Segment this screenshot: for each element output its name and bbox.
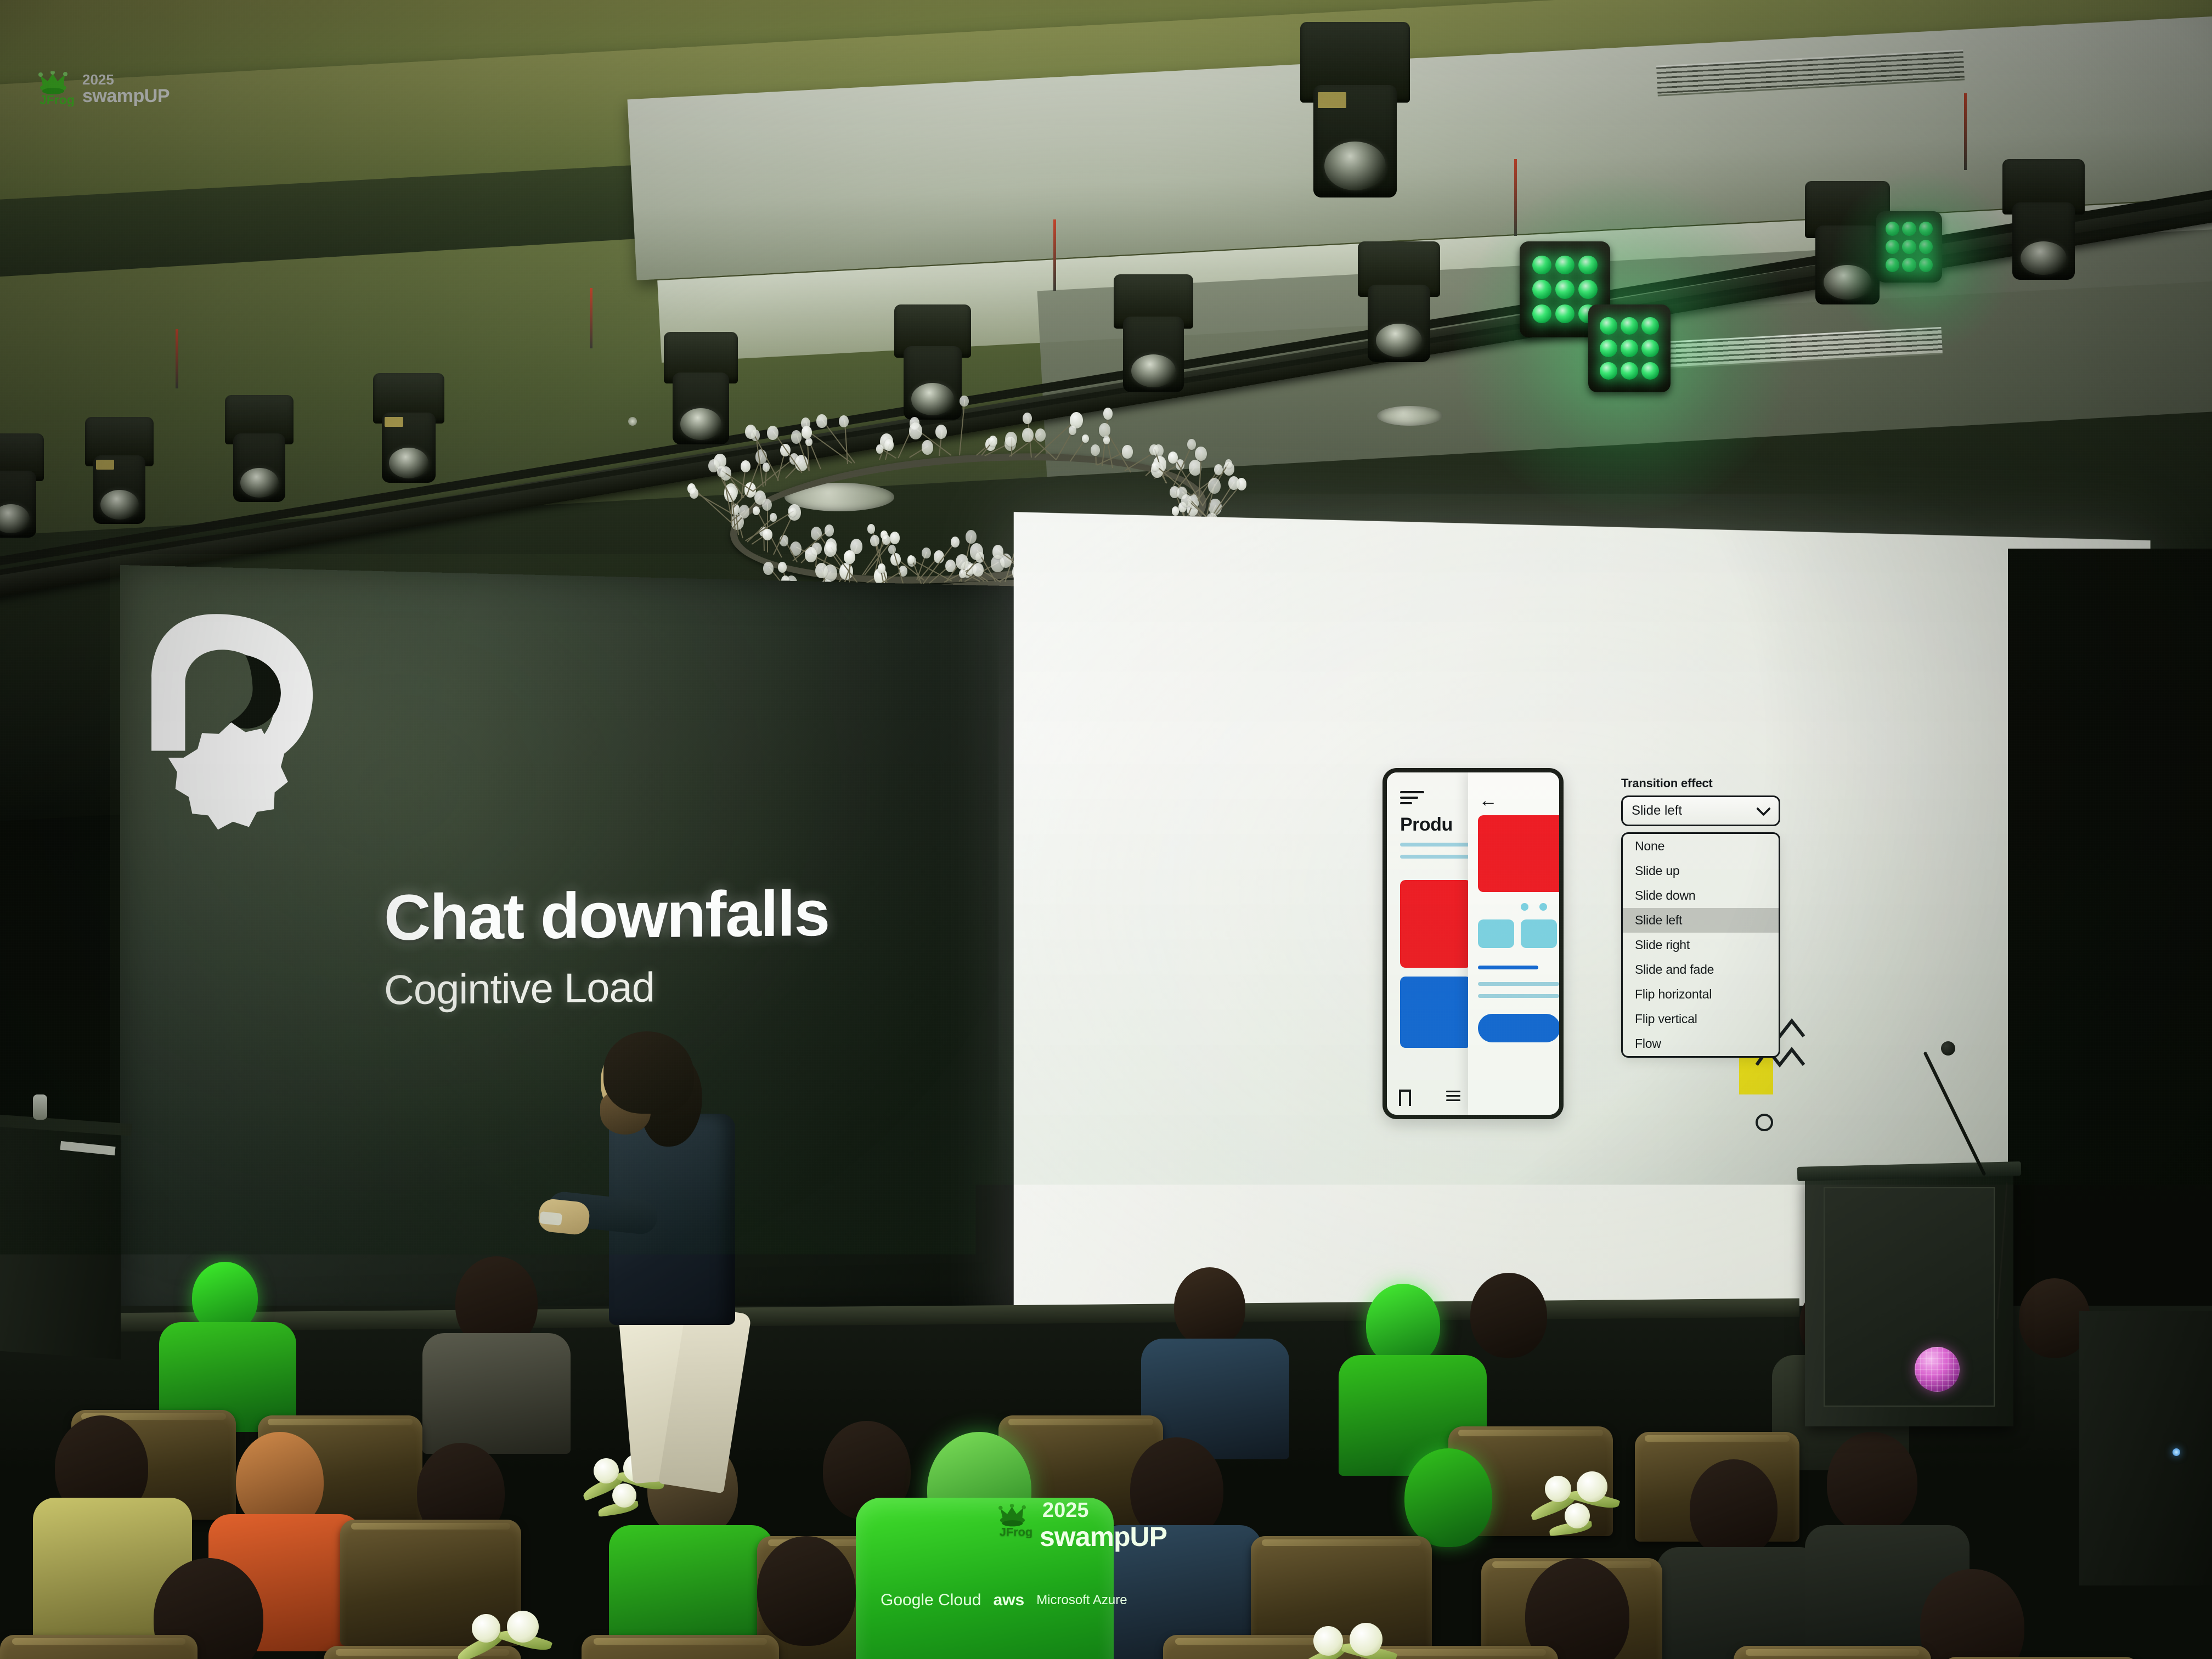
chandelier-leaf — [1103, 408, 1113, 420]
slide-subtitle: Cogintive Load — [384, 967, 654, 1011]
list-icon[interactable] — [1446, 1091, 1460, 1104]
sponsor-aws: aws — [993, 1591, 1024, 1610]
chandelier-leaf — [878, 563, 885, 573]
chandelier-leaf — [867, 524, 875, 534]
chandelier-leaf — [825, 524, 834, 537]
microphone-capsule — [1941, 1041, 1955, 1056]
chandelier-stem — [822, 419, 855, 463]
tshirt-sponsors: Google Cloud aws Microsoft Azure — [881, 1591, 1127, 1610]
select-value: Slide left — [1632, 803, 1682, 819]
chandelier-leaf — [1091, 444, 1100, 456]
dropdown-option[interactable]: Flip vertical — [1623, 1007, 1779, 1031]
chandelier-leaf — [1099, 423, 1110, 437]
dropdown-option[interactable]: Flip horizontal — [1623, 982, 1779, 1007]
chandelier-leaf — [1022, 428, 1033, 442]
hamburger-icon[interactable] — [1400, 791, 1424, 803]
chandelier-leaf — [970, 543, 984, 560]
sponsor-microsoft-azure: Microsoft Azure — [1036, 1593, 1127, 1608]
podium-branding: JFrog 2025 swampUP — [38, 71, 170, 106]
phone-hero-red — [1478, 815, 1564, 892]
truss-drop-wire — [1964, 93, 1967, 170]
led-wash-light-icon — [1876, 211, 1942, 283]
chandelier-leaf — [717, 466, 726, 477]
phone-card-red — [1400, 880, 1471, 968]
dropdown-option[interactable]: Slide up — [1623, 859, 1779, 883]
chandelier-leaf — [1152, 462, 1159, 471]
moving-head-spotlight-icon — [373, 373, 444, 483]
chevron-down-icon — [1756, 802, 1771, 816]
lectern-icon — [0, 1120, 121, 1359]
phone-text-line — [1478, 966, 1538, 969]
chandelier-leaf — [951, 537, 960, 548]
floral-arrangement-icon — [1278, 1613, 1426, 1659]
chandelier-leaf — [770, 513, 776, 522]
chandelier-leaf — [922, 548, 930, 558]
chandelier-leaf — [1082, 435, 1089, 443]
moving-head-spotlight-icon — [1114, 274, 1193, 392]
jfrog-crown-icon: JFrog — [998, 1504, 1035, 1538]
led-wash-light-icon — [1588, 304, 1671, 392]
chandelier-leaf — [960, 396, 968, 407]
chandelier-leaf — [882, 535, 890, 545]
tshirt-event: swampUP — [1040, 1521, 1167, 1553]
chandelier-leaf — [778, 562, 787, 573]
presenter-walking-icon — [543, 1031, 801, 1372]
loudspeaker-power-led — [2172, 1448, 2180, 1456]
audience-head — [1827, 1432, 1917, 1533]
chandelier-leaf — [884, 439, 894, 451]
chandelier-leaf — [763, 562, 774, 575]
dropdown-option[interactable]: Slide down — [1623, 883, 1779, 908]
chandelier-leaf — [959, 569, 966, 578]
chandelier-leaf — [890, 532, 900, 544]
chandelier-leaf — [992, 545, 1004, 559]
bookmark-icon[interactable] — [1399, 1090, 1411, 1106]
ceiling-sprinkler-icon — [628, 417, 637, 426]
chandelier-leaf — [739, 505, 750, 518]
transition-effect-select[interactable]: Slide left — [1621, 795, 1780, 826]
conference-stage-photo: Chat downfalls Cogintive Load Produ ← — [0, 0, 2212, 1659]
chandelier-leaf — [870, 535, 879, 546]
chandelier-leaf — [824, 541, 836, 557]
podium-panel — [1824, 1187, 1995, 1407]
banquet-chair-icon — [1734, 1646, 1931, 1659]
chandelier-leaf — [907, 555, 915, 564]
podium-event: swampUP — [82, 87, 170, 105]
banquet-chair-icon — [0, 1635, 198, 1659]
chandelier-leaf — [1069, 426, 1076, 435]
chandelier-leaf — [973, 563, 984, 577]
chandelier-leaf — [1208, 478, 1221, 494]
truss-drop-wire — [590, 288, 592, 348]
chandelier-leaf — [816, 414, 827, 427]
phone-card-blue — [1400, 977, 1471, 1048]
chandelier-leaf — [1181, 494, 1192, 507]
chandelier-leaf — [789, 507, 797, 517]
chandelier-leaf — [1172, 506, 1180, 516]
chandelier-leaf — [1023, 413, 1032, 424]
presenter-hair — [603, 1031, 694, 1114]
chandelier-leaf — [839, 415, 849, 427]
chandelier-leaf — [956, 554, 968, 570]
chandelier-leaf — [753, 506, 760, 515]
chandelier-leaf — [922, 440, 933, 455]
moving-head-spotlight-icon — [1300, 22, 1410, 198]
chandelier-leaf — [1149, 444, 1159, 456]
arrow-left-icon[interactable]: ← — [1479, 791, 1498, 810]
chandelier-leaf — [805, 438, 812, 446]
jfrog-crown-icon: JFrog — [38, 71, 77, 106]
phone-tile-cyan — [1478, 919, 1514, 948]
phone-cta-button[interactable] — [1478, 1014, 1560, 1042]
chandelier-leaf — [1035, 428, 1046, 441]
phone-dot — [1521, 903, 1528, 911]
moving-head-spotlight-icon — [85, 417, 154, 524]
chandelier-leaf — [1187, 439, 1196, 450]
dropdown-label: Transition effect — [1621, 776, 1780, 791]
chandelier-leaf — [690, 488, 698, 499]
phone-text-line — [1478, 982, 1559, 986]
phone-pane-incoming: ← — [1468, 772, 1564, 1115]
chandelier-leaf — [1195, 447, 1206, 461]
sponsor-google-cloud: Google Cloud — [881, 1591, 981, 1610]
chandelier-leaf — [966, 530, 977, 543]
truss-drop-wire — [176, 329, 178, 388]
chandelier-leaf — [1005, 432, 1017, 447]
chandelier-leaf — [989, 436, 997, 447]
truss-drop-wire — [1053, 219, 1056, 291]
dropdown-option[interactable]: Flow — [1623, 1031, 1779, 1056]
phone-dot — [1539, 903, 1547, 911]
svg-text:JFrog: JFrog — [1000, 1525, 1032, 1538]
podium-year: 2025 — [82, 72, 170, 87]
phone-tile-cyan — [1521, 919, 1557, 948]
dropdown-option[interactable]: Slide and fade — [1623, 957, 1779, 982]
moving-head-spotlight-icon — [0, 433, 44, 538]
phone-mockup: Produ ← — [1383, 768, 1564, 1119]
phone-text-line — [1400, 855, 1471, 859]
chandelier-leaf — [741, 460, 751, 472]
audience-head — [1174, 1267, 1245, 1347]
audience-head — [757, 1536, 856, 1646]
disco-sphere-icon — [1915, 1347, 1960, 1392]
phone-pane-outgoing: Produ — [1387, 772, 1473, 1115]
transition-effect-control: Transition effect Slide left NoneSlide u… — [1621, 776, 1780, 1058]
audience-head — [1404, 1448, 1492, 1547]
moving-head-spotlight-icon — [225, 395, 294, 502]
banquet-chair-icon — [582, 1635, 779, 1659]
phone-heading: Produ — [1400, 814, 1453, 836]
chandelier-leaf — [935, 425, 947, 439]
dropdown-option[interactable]: None — [1623, 834, 1779, 859]
audience-head — [1470, 1273, 1547, 1358]
moving-head-spotlight-icon — [2002, 159, 2085, 280]
dropdown-option[interactable]: Slide left — [1623, 908, 1779, 933]
ceiling-recessed-light — [1377, 406, 1443, 426]
floral-arrangement-icon — [1514, 1465, 1651, 1575]
slide-title: Chat downfalls — [384, 881, 829, 950]
presentation-clicker-icon — [539, 1211, 562, 1226]
chandelier-leaf — [815, 563, 828, 579]
moving-head-spotlight-icon — [1358, 241, 1440, 362]
podium — [1805, 1174, 2013, 1426]
transition-effect-menu[interactable]: NoneSlide upSlide downSlide leftSlide ri… — [1621, 832, 1780, 1058]
chandelier-leaf — [1168, 452, 1178, 464]
chandelier-leaf — [888, 545, 896, 554]
banquet-chair-icon — [1942, 1657, 2140, 1659]
chandelier-leaf — [876, 444, 883, 454]
chandelier-leaf — [802, 426, 812, 439]
chandelier-leaf — [909, 422, 923, 439]
audience-head — [1690, 1459, 1778, 1558]
truss-drop-wire — [1514, 159, 1517, 236]
chandelier-leaf — [1122, 445, 1133, 458]
svg-text:JFrog: JFrog — [39, 93, 75, 106]
audience-torso — [1657, 1547, 1821, 1659]
phone-text-line — [1478, 994, 1559, 998]
chandelier-leaf — [1225, 459, 1232, 468]
audience-head — [1366, 1284, 1440, 1366]
swirl-starburst-logo — [137, 609, 318, 839]
loudspeaker-cabinet-icon — [2079, 1311, 2212, 1585]
chandelier-leaf — [844, 550, 855, 564]
tshirt-year: 2025 — [1042, 1499, 1089, 1522]
dropdown-option[interactable]: Slide right — [1623, 933, 1779, 957]
chandelier-leaf — [1228, 476, 1239, 490]
phone-text-line — [1400, 843, 1471, 847]
floral-arrangement-icon — [439, 1602, 582, 1659]
chandelier-leaf — [791, 430, 802, 443]
lectern-microphone-icon — [33, 1094, 47, 1120]
chandelier-leaf — [767, 426, 778, 440]
chandelier-leaf — [763, 529, 772, 541]
circle-outline — [1756, 1114, 1773, 1131]
